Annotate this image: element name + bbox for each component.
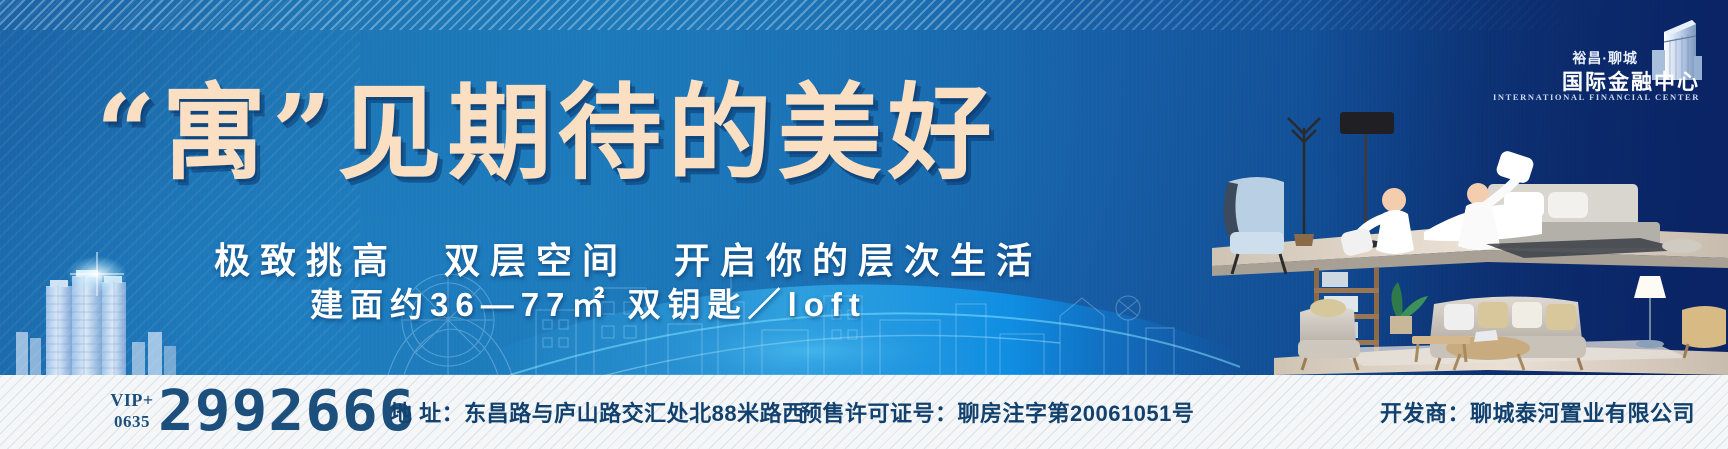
address-text: 地 址：东昌路与庐山路交汇处北88米路西 xyxy=(390,396,805,428)
area-code: 0635 xyxy=(104,411,160,433)
accent-chair-icon xyxy=(1682,306,1726,358)
phone-number[interactable]: 2992666 xyxy=(158,379,416,445)
diagonal-stripe-band-top xyxy=(0,0,1728,30)
logo-line-3: INTERNATIONAL FINANCIAL CENTER xyxy=(1493,92,1700,102)
side-table-icon xyxy=(1662,239,1702,253)
project-logo: 裕昌·聊城 国际金融中心 INTERNATIONAL FINANCIAL CEN… xyxy=(1514,22,1710,104)
plant-icon xyxy=(1390,282,1428,334)
subtitle-line-1: 极致挑高 双层空间 开启你的层次生活 xyxy=(214,232,1042,284)
property-advertisement-banner: “寓”见期待的美好 极致挑高 双层空间 开启你的层次生活 建面约36—77㎡ 双… xyxy=(0,0,1728,449)
footer-info-bar: VIP+ 0635 2992666 地 址：东昌路与庐山路交汇处北88米路西 预… xyxy=(0,375,1728,449)
table-lamp-icon xyxy=(1634,276,1666,348)
page-title: “寓”见期待的美好 xyxy=(96,78,1176,188)
logo-line-1: 裕昌·聊城 xyxy=(1572,48,1638,68)
coat-rack-icon xyxy=(1288,118,1320,246)
developer-text: 开发商：聊城泰河置业有限公司 xyxy=(1380,396,1695,428)
hero-section: “寓”见期待的美好 极致挑高 双层空间 开启你的层次生活 建面约36—77㎡ 双… xyxy=(0,0,1728,375)
bed-icon xyxy=(1424,184,1660,248)
subtitle-line-2: 建面约36—77㎡ 双钥匙／loft xyxy=(310,278,867,326)
vip-hotline-prefix: VIP+ 0635 xyxy=(104,389,160,435)
vip-label: VIP+ xyxy=(104,389,160,411)
presale-permit-text: 预售许可证号：聊房注字第20061051号 xyxy=(800,396,1194,428)
